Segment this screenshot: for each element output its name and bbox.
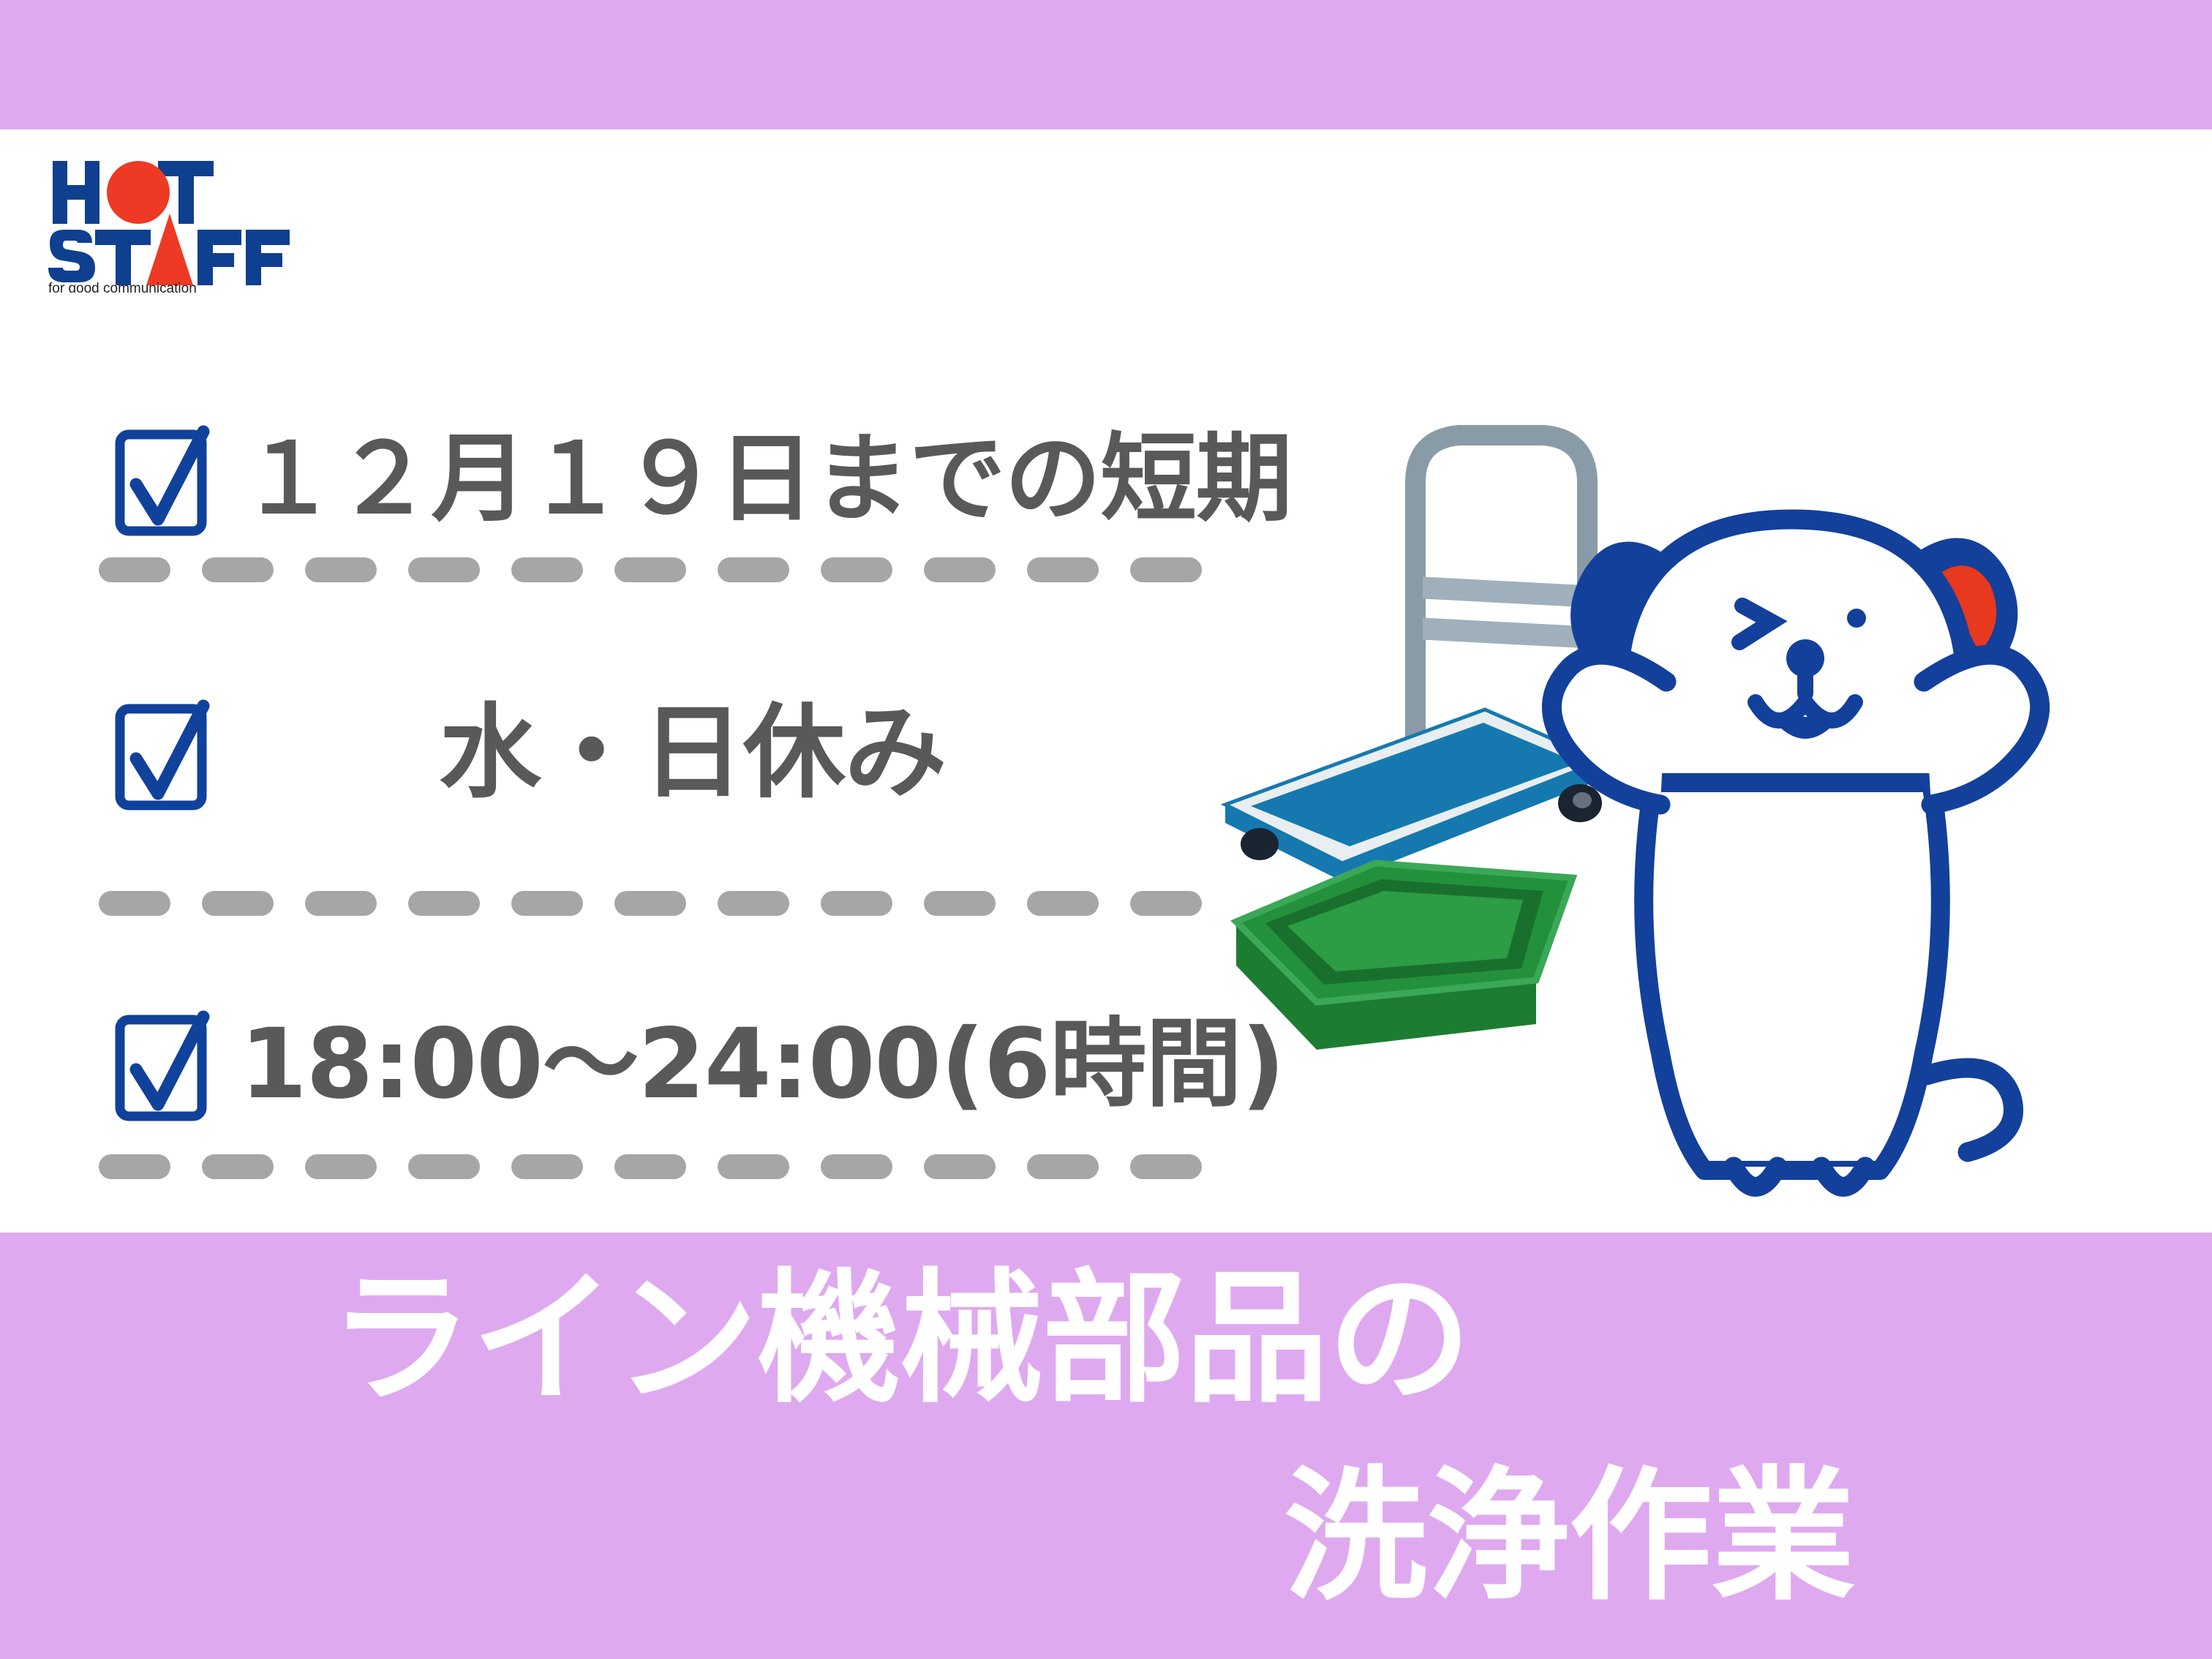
platform-hand-cart xyxy=(1225,435,1602,919)
dash-segment xyxy=(511,1154,583,1179)
checklist-row-1: １２月１９日までの短期 xyxy=(0,410,1317,549)
header-purple-band xyxy=(0,0,2212,129)
dash-segment xyxy=(99,557,170,582)
checkbox-checked-icon[interactable] xyxy=(110,417,227,541)
dash-segment xyxy=(1027,557,1099,582)
dash-segment xyxy=(1027,891,1099,916)
dash-segment xyxy=(821,557,892,582)
dash-segment xyxy=(924,891,996,916)
hot-staff-logo: for good communication xyxy=(47,154,296,293)
dash-segment xyxy=(1130,891,1202,916)
dash-segment xyxy=(614,891,686,916)
dash-segment xyxy=(718,891,789,916)
dash-segment xyxy=(99,891,170,916)
dash-segment xyxy=(924,557,996,582)
illustration-group xyxy=(1192,395,2202,1222)
logo-tagline: for good communication xyxy=(48,281,197,293)
dash-segment xyxy=(305,1154,377,1179)
dash-segment xyxy=(1027,1154,1099,1179)
dash-segment xyxy=(202,557,274,582)
dash-segment xyxy=(408,1154,480,1179)
dash-segment xyxy=(821,1154,892,1179)
dash-segment xyxy=(99,1154,170,1179)
dash-segment xyxy=(408,557,480,582)
dash-segment xyxy=(202,891,274,916)
checklist-row-3: 18:00〜24:00(6時間) xyxy=(0,995,1317,1134)
banner-line-2: 洗浄作業 xyxy=(1284,1465,1854,1609)
banner-text-group: ライン機械部品の 洗浄作業 xyxy=(0,1233,2212,1659)
dash-segment xyxy=(511,891,583,916)
checkbox-checked-icon[interactable] xyxy=(110,691,227,816)
dash-segment xyxy=(718,1154,789,1179)
dash-segment xyxy=(511,557,583,582)
dash-segment xyxy=(408,891,480,916)
dash-segment xyxy=(614,557,686,582)
checklist-label-1: １２月１９日までの短期 xyxy=(240,431,1291,527)
dashed-divider xyxy=(99,557,1202,582)
dash-segment xyxy=(821,891,892,916)
dashed-divider xyxy=(99,1154,1202,1179)
dash-segment xyxy=(1130,557,1202,582)
dash-segment xyxy=(614,1154,686,1179)
dash-segment xyxy=(202,1154,274,1179)
checklist-label-3: 18:00〜24:00(6時間) xyxy=(240,1016,1284,1113)
dash-segment xyxy=(924,1154,996,1179)
dash-segment xyxy=(1130,1154,1202,1179)
poster-root: for good communication １２月１９日までの短期 水・日休み xyxy=(0,0,2212,1659)
dash-segment xyxy=(718,557,789,582)
checkbox-checked-icon[interactable] xyxy=(110,1002,227,1126)
checklist-row-2: 水・日休み xyxy=(0,684,1317,823)
banner-line-1: ライン機械部品の xyxy=(329,1268,1470,1411)
checklist-label-2: 水・日休み xyxy=(439,702,946,805)
green-parts-tray xyxy=(1236,863,1573,1050)
dashed-divider xyxy=(99,891,1202,916)
dog-mascot-flexing xyxy=(1551,519,2039,1187)
dash-segment xyxy=(305,891,377,916)
dash-segment xyxy=(305,557,377,582)
